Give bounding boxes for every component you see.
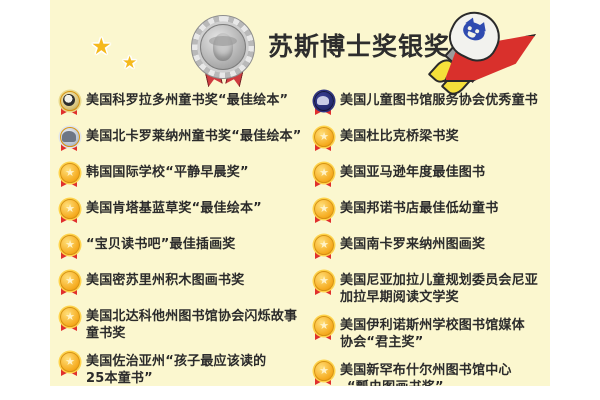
award-label-line: 美国杜比克桥梁书奖 bbox=[340, 128, 547, 145]
award-label: 美国伊利诺斯州学校图书馆媒体协会“君主奖” bbox=[340, 315, 547, 351]
silver-photo-medal-icon bbox=[58, 127, 80, 153]
awards-column-right: 美国儿童图书馆服务协会优秀童书★美国杜比克桥梁书奖★美国亚马逊年度最佳图书★美国… bbox=[312, 90, 547, 386]
award-label-line: 协会“君主奖” bbox=[340, 334, 547, 351]
award-item: ★美国邦诺书店最佳低幼童书 bbox=[312, 198, 547, 225]
award-item: ★美国尼亚加拉儿童规划委员会尼亚加拉早期阅读文学奖 bbox=[312, 270, 547, 306]
gold-star-medal-icon: ★ bbox=[312, 127, 334, 153]
award-label-line: 美国密苏里州积木图画书奖 bbox=[86, 272, 316, 289]
award-item: ★美国北达科他州图书馆协会闪烁故事童书奖 bbox=[58, 306, 316, 342]
portrait-face bbox=[213, 33, 233, 61]
medal-emblem bbox=[63, 94, 75, 106]
awards-poster: ★ ★ 苏斯博士奖银奖 bbox=[50, 0, 550, 386]
award-label: 美国儿童图书馆服务协会优秀童书 bbox=[340, 90, 547, 109]
star-icon: ★ bbox=[315, 362, 333, 380]
award-label-line: “宝贝读书吧”最佳插画奖 bbox=[86, 236, 316, 253]
star-icon: ★ bbox=[315, 164, 333, 182]
award-item: 美国儿童图书馆服务协会优秀童书 bbox=[312, 90, 547, 117]
award-label: 美国南卡罗来纳州图画奖 bbox=[340, 234, 547, 253]
gold-star-medal-icon: ★ bbox=[312, 271, 334, 297]
award-item: ★美国杜比克桥梁书奖 bbox=[312, 126, 547, 153]
award-label: “宝贝读书吧”最佳插画奖 bbox=[86, 234, 316, 253]
star-icon: ★ bbox=[122, 55, 137, 72]
star-icon: ★ bbox=[61, 272, 79, 290]
star-icon: ★ bbox=[315, 236, 333, 254]
award-item: 美国科罗拉多州童书奖“最佳绘本” bbox=[58, 90, 316, 117]
award-label-line: 美国南卡罗来纳州图画奖 bbox=[340, 236, 547, 253]
gold-star-medal-icon: ★ bbox=[58, 307, 80, 333]
award-label-line: 童书奖 bbox=[86, 325, 316, 342]
gold-star-medal-icon: ★ bbox=[312, 199, 334, 225]
gold-star-medal-icon: ★ bbox=[58, 199, 80, 225]
page-title: 苏斯博士奖银奖 bbox=[268, 27, 450, 63]
gold-star-medal-icon: ★ bbox=[58, 352, 80, 378]
award-label: 美国亚马逊年度最佳图书 bbox=[340, 162, 547, 181]
gold-star-medal-icon: ★ bbox=[58, 235, 80, 261]
star-icon: ★ bbox=[315, 317, 333, 335]
award-label: 美国肯塔基蓝草奖“最佳绘本” bbox=[86, 198, 316, 217]
award-item: ★美国南卡罗来纳州图画奖 bbox=[312, 234, 547, 261]
award-label: 美国密苏里州积木图画书奖 bbox=[86, 270, 316, 289]
award-item: ★美国肯塔基蓝草奖“最佳绘本” bbox=[58, 198, 316, 225]
gold-star-medal-icon: ★ bbox=[58, 163, 80, 189]
award-label-line: 美国北达科他州图书馆协会闪烁故事 bbox=[86, 308, 316, 325]
gold-star-medal-icon: ★ bbox=[312, 361, 334, 386]
award-label-line: 美国尼亚加拉儿童规划委员会尼亚 bbox=[340, 272, 547, 289]
award-item: ★美国伊利诺斯州学校图书馆媒体协会“君主奖” bbox=[312, 315, 547, 351]
award-label-line: 韩国国际学校“平静早晨奖” bbox=[86, 164, 316, 181]
gold-star-medal-icon: ★ bbox=[312, 163, 334, 189]
gold-star-medal-icon: ★ bbox=[312, 316, 334, 342]
award-label-line: 美国北卡罗莱纳州童书奖“最佳绘本” bbox=[86, 128, 316, 145]
award-label: 美国杜比克桥梁书奖 bbox=[340, 126, 547, 145]
award-label-line: 美国新罕布什尔州图书馆中心 bbox=[340, 362, 547, 379]
gold-star-medal-icon: ★ bbox=[312, 235, 334, 261]
award-label: 美国科罗拉多州童书奖“最佳绘本” bbox=[86, 90, 316, 109]
award-label-line: 美国邦诺书店最佳低幼童书 bbox=[340, 200, 547, 217]
gold-star-medal-icon: ★ bbox=[58, 271, 80, 297]
award-label-line: 加拉早期阅读文学奖 bbox=[340, 289, 547, 306]
award-label-line: 美国儿童图书馆服务协会优秀童书 bbox=[340, 92, 547, 109]
star-icon: ★ bbox=[61, 353, 79, 371]
award-item: ★美国新罕布什尔州图书馆中心“瓢虫图画书奖” bbox=[312, 360, 547, 386]
star-icon: ★ bbox=[61, 236, 79, 254]
star-icon: ★ bbox=[315, 128, 333, 146]
star-icon: ★ bbox=[61, 308, 79, 326]
star-icon: ★ bbox=[61, 164, 79, 182]
award-label: 韩国国际学校“平静早晨奖” bbox=[86, 162, 316, 181]
gold-photo-medal-icon bbox=[58, 91, 80, 117]
star-icon: ★ bbox=[315, 272, 333, 290]
award-label-line: 美国肯塔基蓝草奖“最佳绘本” bbox=[86, 200, 316, 217]
award-label: 美国佐治亚州“孩子最应该读的25本童书” bbox=[86, 351, 316, 386]
medal-emblem bbox=[317, 96, 329, 105]
award-label-line: 美国佐治亚州“孩子最应该读的 bbox=[86, 353, 316, 370]
award-item: ★韩国国际学校“平静早晨奖” bbox=[58, 162, 316, 189]
star-icon: ★ bbox=[315, 200, 333, 218]
award-label: 美国北达科他州图书馆协会闪烁故事童书奖 bbox=[86, 306, 316, 342]
rosette-disc bbox=[200, 24, 246, 70]
award-label-line: 美国亚马逊年度最佳图书 bbox=[340, 164, 547, 181]
rosette-medal-icon bbox=[190, 14, 258, 86]
award-item: ★美国密苏里州积木图画书奖 bbox=[58, 270, 316, 297]
award-item: ★美国亚马逊年度最佳图书 bbox=[312, 162, 547, 189]
award-item: 美国北卡罗莱纳州童书奖“最佳绘本” bbox=[58, 126, 316, 153]
medal-emblem bbox=[62, 131, 76, 142]
award-label-line: “瓢虫图画书奖” bbox=[340, 379, 547, 386]
award-label-line: 美国科罗拉多州童书奖“最佳绘本” bbox=[86, 92, 316, 109]
award-label-line: 25本童书” bbox=[86, 370, 316, 386]
award-label: 美国新罕布什尔州图书馆中心“瓢虫图画书奖” bbox=[340, 360, 547, 386]
award-label-line: 美国伊利诺斯州学校图书馆媒体 bbox=[340, 317, 547, 334]
star-icon: ★ bbox=[91, 36, 112, 59]
award-item: ★美国佐治亚州“孩子最应该读的25本童书” bbox=[58, 351, 316, 386]
cat-rocket-icon bbox=[430, 6, 540, 90]
poster-header: ★ ★ 苏斯博士奖银奖 bbox=[50, 0, 550, 92]
navy-seal-medal-icon bbox=[312, 91, 334, 117]
award-label: 美国尼亚加拉儿童规划委员会尼亚加拉早期阅读文学奖 bbox=[340, 270, 547, 306]
awards-column-left: 美国科罗拉多州童书奖“最佳绘本”美国北卡罗莱纳州童书奖“最佳绘本”★韩国国际学校… bbox=[58, 90, 316, 386]
award-label: 美国北卡罗莱纳州童书奖“最佳绘本” bbox=[86, 126, 316, 145]
award-item: ★“宝贝读书吧”最佳插画奖 bbox=[58, 234, 316, 261]
star-icon: ★ bbox=[61, 200, 79, 218]
award-label: 美国邦诺书店最佳低幼童书 bbox=[340, 198, 547, 217]
